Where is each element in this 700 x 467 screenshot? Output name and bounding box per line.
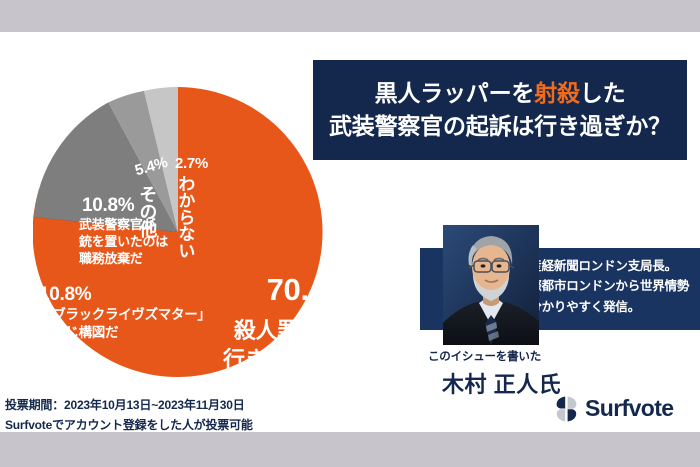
- poll-eligibility-text: Surfvoteでアカウント登録をした人が投票可能: [5, 416, 253, 432]
- author-credit-name: 木村 正人氏: [442, 367, 561, 399]
- author-bio-line-3: を分かりやすく発信。: [517, 297, 697, 317]
- issue-title-line-1-after: した: [580, 80, 626, 106]
- surfvote-logo-icon: [556, 396, 577, 422]
- poll-results-pie-chart: 70.4% 殺人罪で起訴は 行き過ぎだと思う 10.8% 「ブラックライヴズマタ…: [33, 87, 323, 377]
- issue-title-line-2: 武装警察官の起訴は行き過ぎか？: [329, 110, 671, 143]
- author-photo-svg: [443, 225, 539, 345]
- author-bio-line-1: 元産経新聞ロンドン支局長。: [517, 256, 697, 276]
- author-bio-text: 元産経新聞ロンドン支局長。 国際都市ロンドンから世界情勢 を分かりやすく発信。: [517, 256, 697, 317]
- slide-canvas: 70.4% 殺人罪で起訴は 行き過ぎだと思う 10.8% 「ブラックライヴズマタ…: [0, 32, 700, 432]
- author-bio-line-2: 国際都市ロンドンから世界情勢: [517, 276, 697, 296]
- issue-title-line-1-before: 黒人ラッパーを: [375, 80, 535, 106]
- issue-title-line-1: 黒人ラッパーを射殺した: [375, 77, 626, 110]
- surfvote-wordmark: Surfvote: [585, 395, 674, 422]
- surfvote-logo: Surfvote: [556, 395, 674, 422]
- window-top-bar: [0, 0, 700, 32]
- author-avatar: [443, 225, 539, 345]
- poll-period-text: 投票期間：2023年10月13日~2023年11月30日: [5, 396, 253, 416]
- poll-meta-note: 投票期間：2023年10月13日~2023年11月30日 Surfvoteでアカ…: [5, 396, 253, 432]
- author-credit-kicker: このイシューを書いた: [428, 348, 561, 364]
- pie-svg: [33, 87, 323, 377]
- issue-title-highlight: 射殺: [534, 80, 580, 106]
- window-bottom-bar: [0, 432, 700, 467]
- issue-title-banner: 黒人ラッパーを射殺した 武装警察官の起訴は行き過ぎか？: [313, 60, 687, 160]
- author-credit: このイシューを書いた 木村 正人氏: [428, 348, 561, 399]
